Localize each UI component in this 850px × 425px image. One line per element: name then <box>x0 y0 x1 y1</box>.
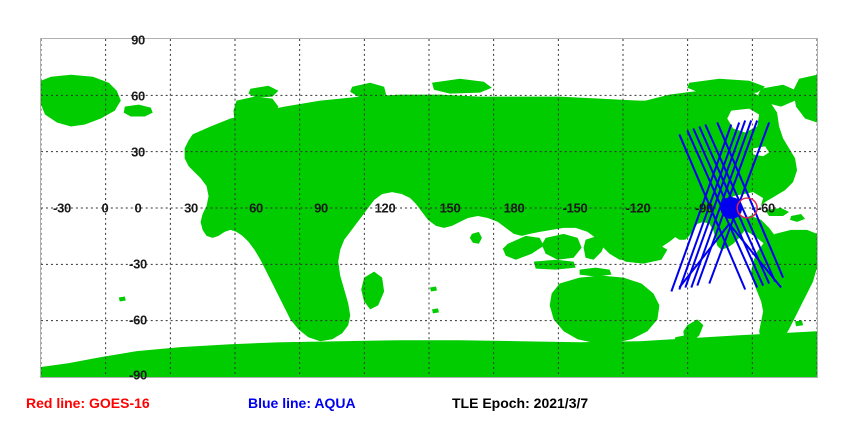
lon-label-150: 150 <box>440 202 461 215</box>
lon-label-0: 0 <box>102 202 109 215</box>
lon-label-m60: -60 <box>757 202 775 215</box>
satellite-coverage-map-page: 90 60 30 0 -30 -60 -90 -30 0 30 60 90 12… <box>0 0 850 425</box>
svalbard-shape <box>248 86 278 98</box>
lat-label-m90: -90 <box>129 369 147 382</box>
sri-lanka-shape <box>470 232 482 244</box>
legend: Red line: GOES-16 Blue line: AQUA TLE Ep… <box>0 396 850 420</box>
lon-label-180: 180 <box>504 202 525 215</box>
legend-red-line-goes16: Red line: GOES-16 <box>26 396 150 410</box>
island-south-atlantic-shape <box>430 287 437 292</box>
australia-shape <box>550 276 660 344</box>
lon-label-120: 120 <box>375 202 396 215</box>
legend-tle-epoch: TLE Epoch: 2021/3/7 <box>452 396 588 410</box>
lat-label-m60: -60 <box>129 314 147 327</box>
lon-label-m120: -120 <box>626 202 651 215</box>
island-kerguelen-shape <box>432 308 439 313</box>
hispaniola-shape <box>790 214 805 222</box>
greenland-west-shape <box>41 75 121 127</box>
lon-label-60: 60 <box>249 202 263 215</box>
lat-label-90: 90 <box>131 34 145 47</box>
greenland-east-shape <box>793 75 817 123</box>
arctic-islands-shape <box>432 79 492 94</box>
legend-blue-line-aqua: Blue line: AQUA <box>248 396 356 410</box>
sulawesi-shape <box>584 236 606 260</box>
island-falkland-shape <box>795 320 803 326</box>
borneo-shape <box>542 234 582 260</box>
iceland-shape <box>124 105 153 117</box>
lon-label-m30: -30 <box>53 202 71 215</box>
canadian-arctic-shape <box>687 79 765 95</box>
lon-label-90: 90 <box>314 202 328 215</box>
island-south-pacific-shape <box>119 296 126 301</box>
sumatra-shape <box>503 236 544 260</box>
lat-label-60: 60 <box>131 90 145 103</box>
lon-label-m90: -90 <box>695 202 713 215</box>
lon-label-m150: -150 <box>563 202 588 215</box>
lesser-sunda-shape <box>580 268 612 277</box>
lat-label-m30: -30 <box>129 258 147 271</box>
aqua-position-marker <box>720 197 742 219</box>
lat-label-30: 30 <box>131 146 145 159</box>
lon-label-30: 30 <box>184 202 198 215</box>
lat-label-0: 0 <box>135 202 142 215</box>
